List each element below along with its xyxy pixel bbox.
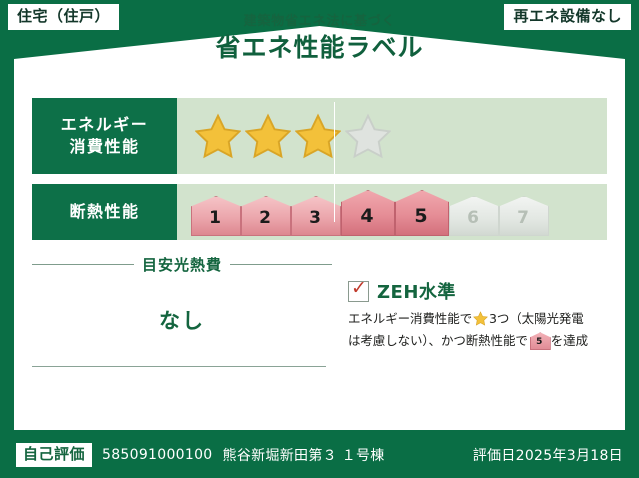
insulation-grade-number: 6 <box>467 210 479 234</box>
insulation-grade-badge-6: 6 <box>449 196 497 234</box>
lower-section: 目安光熱費 なし ✓ ZEH水準 エネルギー消費性能で <box>32 250 607 351</box>
insulation-grade-badge-3: 3 <box>291 196 339 234</box>
zeh-section: ✓ ZEH水準 エネルギー消費性能で 3つ（太陽光発電 は考慮しない）、かつ断熱… <box>332 250 607 351</box>
insulation-performance-row: 断熱性能 1234567 <box>32 184 607 240</box>
zeh-title: ZEH水準 <box>377 278 456 304</box>
section-divider <box>334 102 335 222</box>
renewable-equipment-chip: 再エネ設備なし <box>504 4 631 30</box>
zeh-desc-part1: エネルギー消費性能で <box>348 311 472 326</box>
insulation-grade-badge-7: 7 <box>499 196 547 234</box>
footer: 自己評価 585091000100 熊谷新堀新田第３ １号棟 評価日2025年3… <box>0 432 639 478</box>
insulation-grade-scale: 1234567 <box>191 190 547 234</box>
insulation-grade-badge-2: 2 <box>241 196 289 234</box>
energy-performance-label-card: 住宅（住戸） 再エネ設備なし 建築物省エネ法に基づく 省エネ性能ラベル エネルギ… <box>0 0 639 478</box>
utility-cost-heading-text: 目安光熱費 <box>142 254 222 275</box>
zeh-desc-part3: を達成 <box>551 333 588 348</box>
building-address: 熊谷新堀新田第３ １号棟 <box>223 445 385 465</box>
star-rating <box>195 113 391 159</box>
self-evaluation-badge: 自己評価 <box>16 443 92 467</box>
insulation-grade-badge-1: 1 <box>191 196 239 234</box>
energy-label-line2: 消費性能 <box>69 136 139 158</box>
utility-cost-heading: 目安光熱費 <box>32 254 332 275</box>
energy-performance-value <box>177 98 607 174</box>
zeh-desc-part2: は考慮しない）、かつ断熱性能で <box>348 333 528 348</box>
energy-performance-row: エネルギー 消費性能 <box>32 98 607 174</box>
insulation-grade-number: 7 <box>517 210 529 234</box>
insulation-badge-inline: 5 <box>530 332 549 348</box>
insulation-grade-number: 4 <box>360 207 373 234</box>
label-content: エネルギー 消費性能 断熱性能 1234567 目安光熱費 なし <box>32 98 607 351</box>
energy-label-line1: エネルギー <box>61 114 149 136</box>
checkmark-icon: ✓ <box>348 281 369 302</box>
insulation-performance-value: 1234567 <box>177 184 607 240</box>
heading-rule-right <box>230 264 332 265</box>
heading-rule-left <box>32 264 134 265</box>
star-icon-filled <box>245 113 291 159</box>
insulation-grade-number: 1 <box>209 210 221 234</box>
insulation-grade-number: 2 <box>259 210 271 234</box>
utility-cost-bottom-divider <box>32 366 326 367</box>
star-icon-empty <box>345 113 391 159</box>
certificate-id: 585091000100 <box>102 447 213 463</box>
utility-cost-value: なし <box>32 305 332 335</box>
zeh-description: エネルギー消費性能で 3つ（太陽光発電 は考慮しない）、かつ断熱性能で 5 を達… <box>348 309 607 351</box>
insulation-grade-number: 3 <box>309 210 321 234</box>
insulation-badge-inline-number: 5 <box>530 338 549 347</box>
star-icon-filled <box>195 113 241 159</box>
star-icon <box>473 311 488 331</box>
energy-performance-label: エネルギー 消費性能 <box>32 98 177 174</box>
page-title: 省エネ性能ラベル <box>0 32 639 63</box>
insulation-performance-label: 断熱性能 <box>32 184 177 240</box>
utility-cost-section: 目安光熱費 なし <box>32 250 332 351</box>
zeh-desc-star-count: 3つ（太陽光発電 <box>489 311 584 326</box>
zeh-heading: ✓ ZEH水準 <box>348 278 607 304</box>
insulation-grade-badge-5: 5 <box>395 190 447 234</box>
housing-type-chip: 住宅（住戸） <box>8 4 119 30</box>
insulation-grade-number: 5 <box>414 207 427 234</box>
insulation-grade-badge-4: 4 <box>341 190 393 234</box>
evaluation-date: 評価日2025年3月18日 <box>473 445 623 465</box>
